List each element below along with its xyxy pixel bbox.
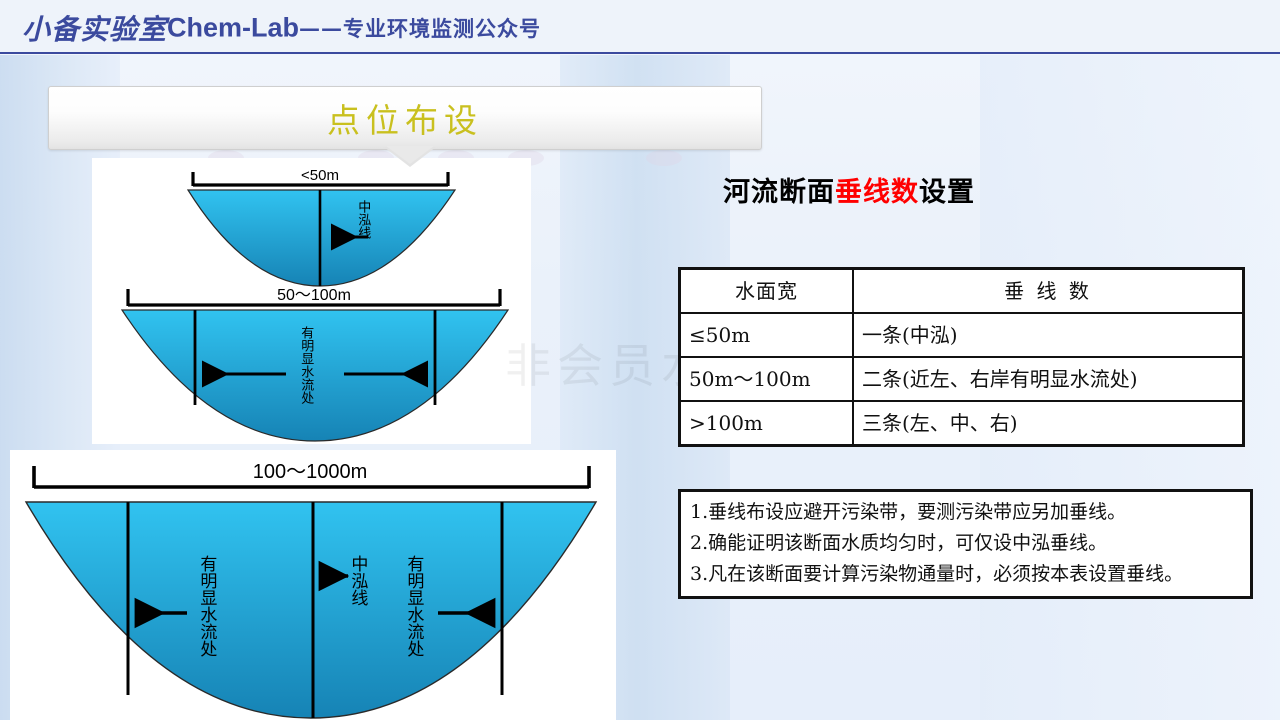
- note-item: 1.垂线布设应避开污染带，要测污染带应另加垂线。: [690, 497, 1241, 528]
- heading-part-highlight: 垂线数: [835, 177, 919, 208]
- vertical-line-count-table: 水面宽 垂 线 数 ≤50m 一条(中泓) 50m～100m 二条(近左、右岸有…: [678, 267, 1245, 447]
- header-divider: [0, 52, 1280, 54]
- heading-part-pre: 河流断面: [723, 177, 835, 208]
- caption-flow-right: 有明显水流处: [404, 555, 421, 657]
- brand-lockup: 小备实验室Chem-Lab——专业环境监测公众号: [22, 8, 541, 48]
- brand-subtitle: 专业环境监测公众号: [343, 16, 541, 41]
- diagram-panel-bottom: 100～1000m 有明显水流处 中泓线 有明显水流处: [10, 450, 616, 720]
- slide-title: 点位布设: [49, 87, 761, 149]
- table-header-row: 水面宽 垂 线 数: [680, 269, 1244, 314]
- cell-lines: 一条(中泓): [853, 313, 1244, 357]
- diagram-river-50-100m: 50～100m: [122, 287, 508, 441]
- river-cross-section: [122, 310, 508, 441]
- notes-box: 1.垂线布设应避开污染带，要测污染带应另加垂线。 2.确能证明该断面水质均匀时，…: [678, 489, 1253, 599]
- cell-width: >100m: [680, 401, 854, 446]
- page-header: 小备实验室Chem-Lab——专业环境监测公众号: [0, 0, 1280, 54]
- diagram-river-lt-50m: <50m: [188, 167, 455, 286]
- brand-name-cn: 小备实验室: [22, 13, 167, 46]
- river-cross-section: [188, 190, 455, 286]
- table-row: ≤50m 一条(中泓): [680, 313, 1244, 357]
- table-row: >100m 三条(左、中、右): [680, 401, 1244, 446]
- heading-part-post: 设置: [919, 177, 975, 208]
- table-header-water-width: 水面宽: [680, 269, 854, 314]
- caption-flow-50-100m: 有明显水流处: [299, 326, 312, 404]
- cell-width: 50m～100m: [680, 357, 854, 401]
- table-header-line-count: 垂 线 数: [853, 269, 1244, 314]
- cell-lines: 二条(近左、右岸有明显水流处): [853, 357, 1244, 401]
- title-banner-tail-inner: [386, 146, 434, 164]
- river-section-bottom-svg: 100～1000m: [10, 450, 616, 720]
- width-label-100-1000m: 100～1000m: [253, 461, 368, 483]
- decorative-circle: [646, 150, 682, 166]
- note-item: 3.凡在该断面要计算污染物通量时，必须按本表设置垂线。: [690, 559, 1241, 590]
- cell-width: ≤50m: [680, 313, 854, 357]
- brand-name-latin: Chem-Lab: [167, 13, 299, 43]
- river-cross-section: [26, 502, 596, 718]
- caption-flow-left: 有明显水流处: [197, 555, 214, 657]
- diagram-panel-top: <50m 50～100m 中泓线 有明显水流处: [92, 158, 531, 444]
- slide-title-banner: 点位布设: [48, 86, 762, 150]
- cell-lines: 三条(左、中、右): [853, 401, 1244, 446]
- brand-dash: ——: [299, 16, 343, 41]
- table-row: 50m～100m 二条(近左、右岸有明显水流处): [680, 357, 1244, 401]
- width-label-lt-50m: <50m: [301, 167, 339, 184]
- note-item: 2.确能证明该断面水质均匀时，可仅设中泓垂线。: [690, 528, 1241, 559]
- section-heading: 河流断面垂线数设置: [723, 170, 975, 209]
- caption-mid-line-lt-50m: 中泓线: [356, 200, 369, 239]
- diagram-river-100-1000m: 100～1000m: [26, 461, 596, 718]
- caption-mid-line: 中泓线: [348, 555, 365, 606]
- width-label-50-100m: 50～100m: [277, 287, 351, 304]
